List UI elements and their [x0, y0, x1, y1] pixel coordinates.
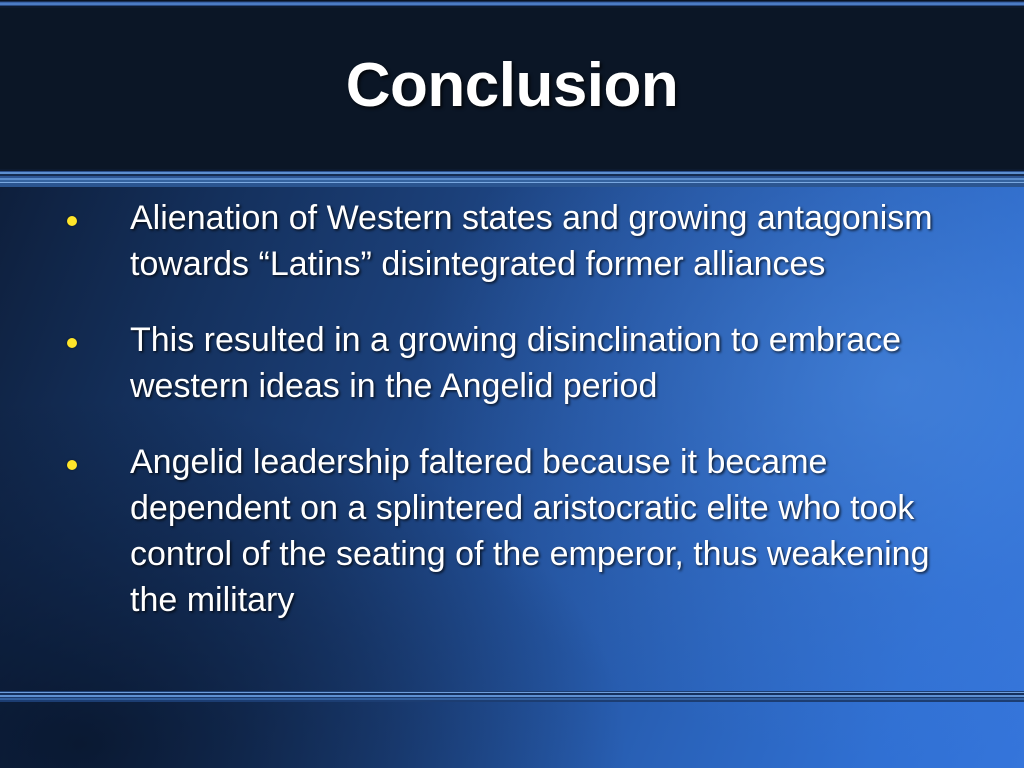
list-item: This resulted in a growing disinclinatio…	[52, 317, 974, 409]
bullet-text: This resulted in a growing disinclinatio…	[130, 317, 974, 409]
slide-header: Conclusion	[0, 8, 1024, 169]
list-item: Alienation of Western states and growing…	[52, 195, 974, 287]
presentation-slide: Conclusion Alienation of Western states …	[0, 0, 1024, 768]
header-divider-band	[0, 169, 1024, 187]
bullet-list: Alienation of Western states and growing…	[52, 195, 974, 623]
bullet-text: Angelid leadership faltered because it b…	[130, 439, 974, 623]
bullet-dot-icon	[67, 460, 77, 470]
list-item: Angelid leadership faltered because it b…	[52, 439, 974, 623]
bullet-dot-icon	[67, 338, 77, 348]
slide-content: Alienation of Western states and growing…	[0, 187, 1024, 691]
bullet-dot-icon	[67, 216, 77, 226]
bullet-text: Alienation of Western states and growing…	[130, 195, 974, 287]
top-accent-band	[0, 0, 1024, 8]
footer-divider-band	[0, 691, 1024, 702]
slide-title: Conclusion	[346, 50, 679, 127]
